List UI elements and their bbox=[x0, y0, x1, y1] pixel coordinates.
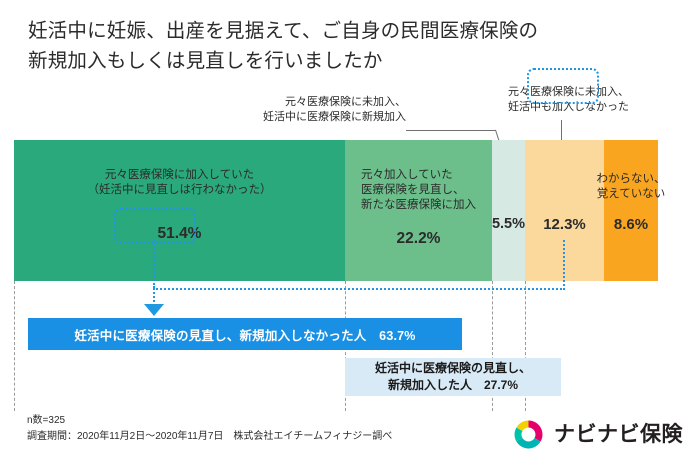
bar-segment-label-5: わからない、 覚えていない bbox=[594, 172, 668, 202]
callout-label-new-enrollment: 元々医療保険に未加入、 妊活中に医療保険に新規加入 bbox=[236, 95, 406, 125]
callout-label-never-enrolled: 元々医療保険に未加入、 妊活中も加入しなかった bbox=[508, 85, 684, 115]
stacked-bar-chart: 元々医療保険に加入していた （妊活中に見直しは行わなかった） 51.4% 元々加… bbox=[14, 140, 658, 281]
connector-horizontal bbox=[153, 288, 565, 290]
connector-vertical-to-12-3 bbox=[563, 240, 565, 290]
page-title: 妊活中に妊娠、出産を見据えて、ご自身の民間医療保険の 新規加入もしくは見直しを行… bbox=[28, 16, 668, 76]
bar-segment-value-2: 22.2% bbox=[345, 230, 492, 248]
footnote-sample-size: n数=325 bbox=[27, 414, 65, 428]
guide-line-left bbox=[14, 281, 15, 411]
bar-segment-dont-know[interactable]: わからない、 覚えていない 8.6% bbox=[604, 140, 658, 281]
callout-left-leader-horizontal bbox=[406, 130, 496, 131]
summary-bar-enrolled[interactable]: 妊活中に医療保険の見直し、 新規加入した人 27.7% bbox=[345, 358, 561, 396]
bar-segment-value-1: 51.4% bbox=[14, 225, 345, 243]
footnote-survey-period: 調査期間：2020年11月2日〜2020年11月7日 株式会社エイチームフィナジ… bbox=[27, 430, 392, 444]
brand-logo-text: ナビナビ保険 bbox=[554, 418, 683, 451]
page-title-line-1: 妊活中に妊娠、出産を見据えて、ご自身の民間医療保険の bbox=[28, 16, 668, 46]
bar-segment-reviewed-and-newly-enrolled[interactable]: 元々加入していた 医療保険を見直し、 新たな医療保険に加入 22.2% bbox=[345, 140, 492, 281]
bar-segment-value-4: 12.3% bbox=[525, 216, 604, 233]
connector-arrowhead bbox=[144, 304, 164, 316]
brand-logo[interactable]: ナビナビ保険 bbox=[512, 418, 683, 451]
page-title-line-2: 新規加入もしくは見直しを行いましたか bbox=[28, 46, 668, 76]
bar-segment-value-5: 8.6% bbox=[604, 216, 658, 233]
infographic-canvas: 妊活中に妊娠、出産を見据えて、ご自身の民間医療保険の 新規加入もしくは見直しを行… bbox=[0, 0, 700, 466]
callout-right-leader bbox=[561, 120, 562, 142]
bar-segment-label-1: 元々医療保険に加入していた （妊活中に見直しは行わなかった） bbox=[14, 168, 345, 198]
bar-segment-label-2: 元々加入していた 医療保険を見直し、 新たな医療保険に加入 bbox=[345, 168, 492, 213]
connector-vertical-from-51-4 bbox=[153, 240, 155, 288]
navinavi-ring-icon bbox=[512, 418, 545, 451]
summary-bar-not-enrolled[interactable]: 妊活中に医療保険の見直し、新規加入しなかった人 63.7% bbox=[28, 318, 462, 350]
bar-segment-already-enrolled-no-review[interactable]: 元々医療保険に加入していた （妊活中に見直しは行わなかった） 51.4% bbox=[14, 140, 345, 281]
bar-segment-not-enrolled-new-enrollment[interactable]: 5.5% bbox=[492, 140, 525, 281]
